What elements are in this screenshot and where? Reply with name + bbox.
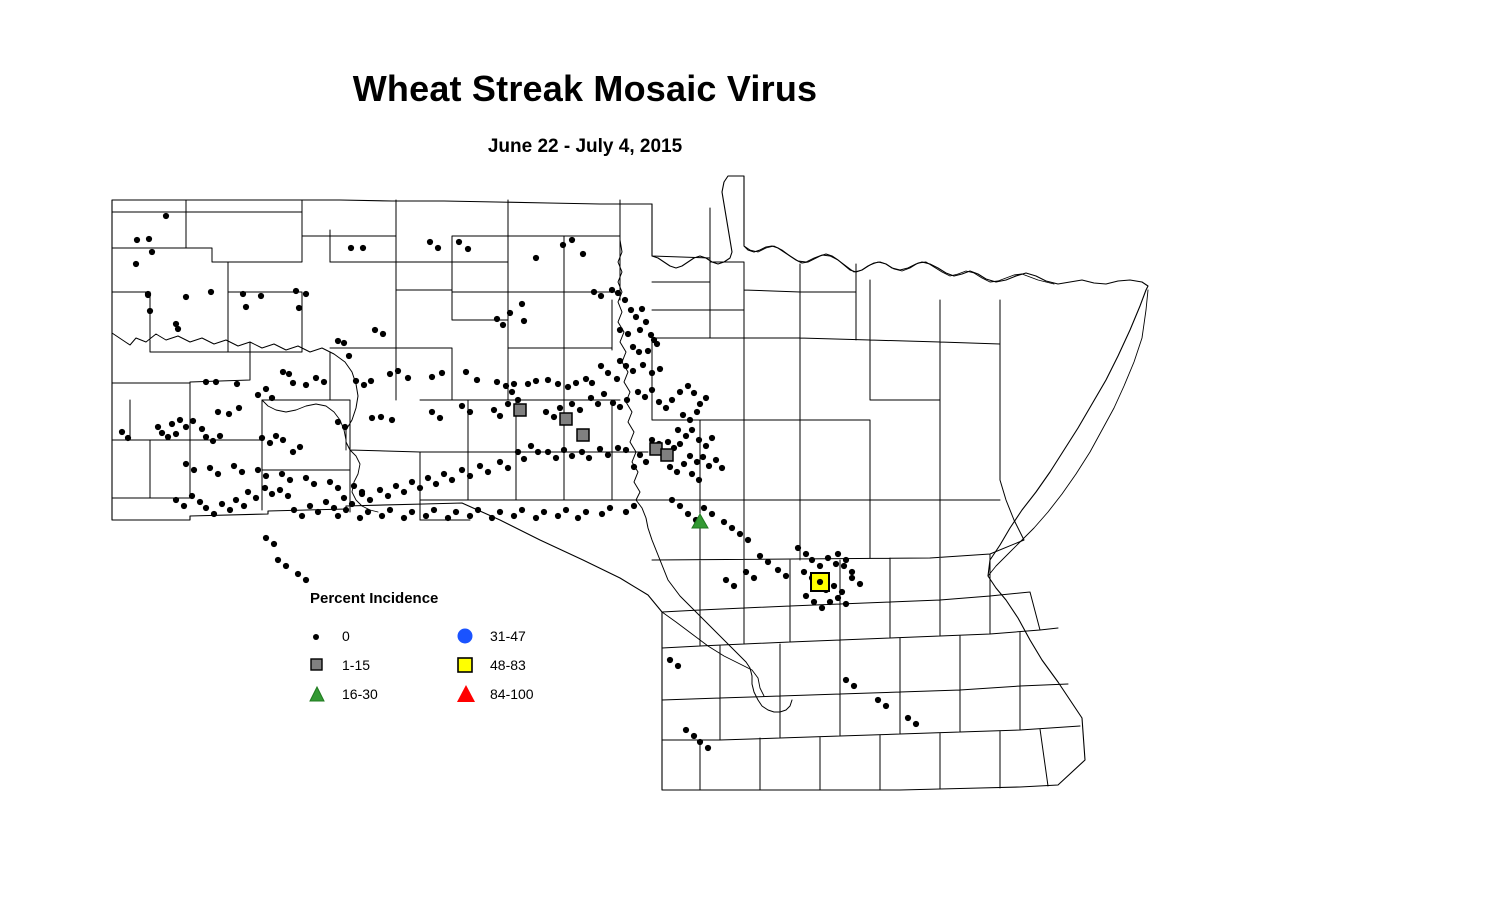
map-point-0 xyxy=(557,405,563,411)
map-point-0 xyxy=(133,261,139,267)
map-point-0 xyxy=(387,371,393,377)
map-point-0 xyxy=(589,380,595,386)
map-point-0 xyxy=(503,383,509,389)
map-point-0 xyxy=(657,366,663,372)
map-point-0 xyxy=(857,581,863,587)
map-point-0 xyxy=(215,409,221,415)
map-point-0 xyxy=(267,440,273,446)
legend-swatch-blue-circle-icon xyxy=(456,625,482,647)
map-point-0 xyxy=(723,577,729,583)
legend-label-16-30: 16-30 xyxy=(342,686,378,702)
map-point-0 xyxy=(343,507,349,513)
map-point-0 xyxy=(533,255,539,261)
map-point-0 xyxy=(700,454,706,460)
map-point-0 xyxy=(494,379,500,385)
map-point-0 xyxy=(253,495,259,501)
map-point-0 xyxy=(175,326,181,332)
map-point-0 xyxy=(656,399,662,405)
map-point-0 xyxy=(263,386,269,392)
map-point-0 xyxy=(622,297,628,303)
map-point-0 xyxy=(145,291,151,297)
map-point-0 xyxy=(303,577,309,583)
mt-counties xyxy=(112,200,420,520)
map-point-0 xyxy=(689,471,695,477)
map-point-0 xyxy=(245,489,251,495)
map-point-0 xyxy=(271,541,277,547)
map-point-0 xyxy=(811,599,817,605)
map-point-0 xyxy=(573,380,579,386)
map-point-0 xyxy=(203,434,209,440)
legend-swatch-green-triangle-icon xyxy=(308,683,334,705)
map-point-0 xyxy=(296,305,302,311)
map-point-0 xyxy=(467,473,473,479)
points-incidence-48-83 xyxy=(811,573,829,591)
map-point-0 xyxy=(349,501,355,507)
map-point-0 xyxy=(851,683,857,689)
map-point-0 xyxy=(231,463,237,469)
map-point-0 xyxy=(631,464,637,470)
map-point-0 xyxy=(599,511,605,517)
map-point-0 xyxy=(417,485,423,491)
map-point-0 xyxy=(258,293,264,299)
map-point-0 xyxy=(642,394,648,400)
map-point-0 xyxy=(255,392,261,398)
map-point-0 xyxy=(360,245,366,251)
map-point-0 xyxy=(146,236,152,242)
map-point-0 xyxy=(449,477,455,483)
map-point-0 xyxy=(713,457,719,463)
page-root: Wheat Streak Mosaic Virus June 22 - July… xyxy=(0,0,1503,900)
map-point-0 xyxy=(456,239,462,245)
map-point-0 xyxy=(617,404,623,410)
map-point-0 xyxy=(623,509,629,515)
map-point-0 xyxy=(315,509,321,515)
map-point-0 xyxy=(835,595,841,601)
map-point-0 xyxy=(563,507,569,513)
map-point-0 xyxy=(831,583,837,589)
map-point-0 xyxy=(555,513,561,519)
map-point-0 xyxy=(625,331,631,337)
map-point-0 xyxy=(595,401,601,407)
map-point-0 xyxy=(819,605,825,611)
map-point-0 xyxy=(467,513,473,519)
map-point-0 xyxy=(905,715,911,721)
map-point-0 xyxy=(643,459,649,465)
map-point-0 xyxy=(643,319,649,325)
map-point-0 xyxy=(696,437,702,443)
legend-swatch-dot-icon xyxy=(308,625,334,647)
map-point-0 xyxy=(259,435,265,441)
map-point-0 xyxy=(353,378,359,384)
map-point-0 xyxy=(169,421,175,427)
map-point-0 xyxy=(119,429,125,435)
map-point-0 xyxy=(583,509,589,515)
legend-label-84-100: 84-100 xyxy=(490,686,534,702)
map-point-0 xyxy=(515,449,521,455)
map-point-0 xyxy=(177,417,183,423)
map-point-0 xyxy=(509,389,515,395)
map-point-0 xyxy=(691,390,697,396)
map-point-0 xyxy=(551,414,557,420)
map-point-0 xyxy=(155,424,161,430)
map-point-0 xyxy=(669,397,675,403)
map-point-0 xyxy=(667,657,673,663)
map-point-0 xyxy=(491,407,497,413)
map-point-0 xyxy=(210,438,216,444)
map-point-0 xyxy=(586,455,592,461)
map-point-0 xyxy=(290,449,296,455)
map-point-0 xyxy=(601,391,607,397)
map-point-0 xyxy=(431,507,437,513)
map-point-0 xyxy=(635,389,641,395)
map-point-0 xyxy=(667,464,673,470)
map-point-0 xyxy=(623,363,629,369)
map-point-0 xyxy=(614,376,620,382)
map-point-0 xyxy=(236,405,242,411)
map-point-0 xyxy=(348,245,354,251)
map-point-0 xyxy=(463,369,469,375)
map-point-0 xyxy=(783,573,789,579)
map-point-0 xyxy=(729,525,735,531)
map-point-0 xyxy=(624,397,630,403)
map-point-0 xyxy=(617,358,623,364)
map-point-0 xyxy=(680,412,686,418)
map-point-0 xyxy=(293,288,299,294)
map-point-1-15 xyxy=(514,404,526,416)
map-point-0 xyxy=(433,481,439,487)
map-point-0 xyxy=(409,509,415,515)
map-point-0 xyxy=(409,479,415,485)
region-outline xyxy=(112,176,1148,790)
map-point-0 xyxy=(706,463,712,469)
map-point-0 xyxy=(803,593,809,599)
map-point-0 xyxy=(703,443,709,449)
map-point-0 xyxy=(701,505,707,511)
map-point-0 xyxy=(636,349,642,355)
map-point-0 xyxy=(569,453,575,459)
map-point-0 xyxy=(703,395,709,401)
map-point-0 xyxy=(833,561,839,567)
map-point-0 xyxy=(743,569,749,575)
map-point-0 xyxy=(234,381,240,387)
map-point-0 xyxy=(649,370,655,376)
map-point-1-15 xyxy=(661,449,673,461)
map-point-0 xyxy=(445,515,451,521)
map-point-0 xyxy=(817,579,823,585)
map-point-0 xyxy=(628,307,634,313)
map-point-0 xyxy=(378,414,384,420)
map-point-0 xyxy=(149,249,155,255)
map-point-0 xyxy=(731,583,737,589)
map-point-0 xyxy=(569,237,575,243)
map-point-0 xyxy=(489,515,495,521)
map-point-0 xyxy=(163,213,169,219)
map-point-0 xyxy=(213,379,219,385)
map-point-0 xyxy=(291,507,297,513)
map-point-0 xyxy=(633,314,639,320)
map-point-0 xyxy=(519,301,525,307)
map-point-0 xyxy=(181,503,187,509)
map-point-0 xyxy=(299,513,305,519)
map-point-0 xyxy=(630,368,636,374)
map-point-0 xyxy=(389,417,395,423)
map-point-0 xyxy=(511,381,517,387)
map-point-0 xyxy=(203,505,209,511)
map-point-0 xyxy=(545,377,551,383)
map-point-0 xyxy=(243,304,249,310)
map-point-0 xyxy=(560,242,566,248)
map-point-0 xyxy=(521,456,527,462)
map-point-0 xyxy=(439,370,445,376)
map-point-0 xyxy=(817,563,823,569)
map-point-0 xyxy=(379,513,385,519)
map-point-0 xyxy=(535,449,541,455)
map-point-0 xyxy=(649,387,655,393)
map-point-0 xyxy=(519,507,525,513)
mn-north-irregular xyxy=(744,246,1054,284)
map-point-0 xyxy=(583,376,589,382)
map-point-0 xyxy=(775,567,781,573)
map-point-0 xyxy=(173,431,179,437)
map-point-0 xyxy=(709,435,715,441)
map-point-0 xyxy=(677,441,683,447)
map-point-0 xyxy=(665,439,671,445)
map-point-0 xyxy=(147,308,153,314)
map-point-0 xyxy=(709,511,715,517)
map-point-0 xyxy=(507,310,513,316)
map-point-0 xyxy=(696,477,702,483)
lake-superior-shore xyxy=(988,290,1148,576)
map-point-0 xyxy=(427,239,433,245)
map-point-0 xyxy=(675,663,681,669)
map-point-0 xyxy=(683,727,689,733)
map-point-0 xyxy=(521,318,527,324)
map-point-0 xyxy=(459,467,465,473)
map-point-0 xyxy=(401,489,407,495)
map-point-0 xyxy=(134,237,140,243)
map-point-0 xyxy=(303,382,309,388)
map-point-0 xyxy=(623,447,629,453)
map-point-0 xyxy=(303,291,309,297)
map-point-0 xyxy=(183,424,189,430)
map-point-0 xyxy=(277,487,283,493)
map-point-0 xyxy=(380,331,386,337)
map-point-0 xyxy=(279,471,285,477)
map-point-0 xyxy=(683,433,689,439)
map-point-0 xyxy=(579,449,585,455)
map-point-0 xyxy=(351,483,357,489)
mn-sd-river-boundary xyxy=(662,612,764,696)
map-point-0 xyxy=(263,473,269,479)
map-point-0 xyxy=(555,381,561,387)
map-point-0 xyxy=(335,513,341,519)
map-point-0 xyxy=(801,569,807,575)
map-point-0 xyxy=(809,557,815,563)
map-point-0 xyxy=(183,294,189,300)
map-point-0 xyxy=(545,449,551,455)
map-point-0 xyxy=(393,483,399,489)
map-point-0 xyxy=(359,489,365,495)
map-point-0 xyxy=(687,453,693,459)
map-point-0 xyxy=(226,411,232,417)
map-point-0 xyxy=(227,507,233,513)
map-point-0 xyxy=(827,599,833,605)
map-point-0 xyxy=(591,289,597,295)
map-point-0 xyxy=(795,545,801,551)
map-point-0 xyxy=(605,370,611,376)
map-point-0 xyxy=(269,491,275,497)
map-point-0 xyxy=(474,377,480,383)
legend-label-48-83: 48-83 xyxy=(490,657,526,673)
map-point-0 xyxy=(377,487,383,493)
map-point-1-15 xyxy=(650,443,662,455)
map-point-0 xyxy=(341,495,347,501)
map-container xyxy=(0,0,1503,900)
map-point-0 xyxy=(505,465,511,471)
map-point-0 xyxy=(341,340,347,346)
map-point-0 xyxy=(528,443,534,449)
map-point-0 xyxy=(367,497,373,503)
map-point-0 xyxy=(685,511,691,517)
map-point-0 xyxy=(497,459,503,465)
map-point-0 xyxy=(401,515,407,521)
map-point-0 xyxy=(239,469,245,475)
map-point-0 xyxy=(598,293,604,299)
legend-swatch-yellow-square-icon xyxy=(456,654,482,676)
map-point-0 xyxy=(485,469,491,475)
map-point-0 xyxy=(405,375,411,381)
map-point-0 xyxy=(541,509,547,515)
map-point-0 xyxy=(453,509,459,515)
map-point-0 xyxy=(757,553,763,559)
map-point-0 xyxy=(335,338,341,344)
map-point-0 xyxy=(639,306,645,312)
map-point-0 xyxy=(435,245,441,251)
map-point-0 xyxy=(219,501,225,507)
map-point-0 xyxy=(500,322,506,328)
map-point-0 xyxy=(694,409,700,415)
legend-title: Percent Incidence xyxy=(310,590,438,607)
map-point-0 xyxy=(361,382,367,388)
map-point-0 xyxy=(617,327,623,333)
map-point-0 xyxy=(533,515,539,521)
county-boundaries-layer xyxy=(112,176,1148,790)
map-point-0 xyxy=(631,503,637,509)
map-point-0 xyxy=(841,563,847,569)
county-choropleth-map xyxy=(0,0,1503,900)
map-point-0 xyxy=(425,475,431,481)
map-point-0 xyxy=(335,485,341,491)
map-point-0 xyxy=(569,401,575,407)
map-point-0 xyxy=(372,327,378,333)
map-point-0 xyxy=(159,430,165,436)
legend-label-1-15: 1-15 xyxy=(342,657,370,673)
map-point-0 xyxy=(335,419,341,425)
map-point-0 xyxy=(465,246,471,252)
map-point-0 xyxy=(297,444,303,450)
map-point-0 xyxy=(286,371,292,377)
map-point-0 xyxy=(368,378,374,384)
map-point-0 xyxy=(190,418,196,424)
map-point-0 xyxy=(843,601,849,607)
map-point-0 xyxy=(395,368,401,374)
map-point-0 xyxy=(694,459,700,465)
map-point-0 xyxy=(721,519,727,525)
map-point-0 xyxy=(346,353,352,359)
map-point-0 xyxy=(543,409,549,415)
map-point-0 xyxy=(630,344,636,350)
map-point-0 xyxy=(553,455,559,461)
map-point-0 xyxy=(387,507,393,513)
map-point-0 xyxy=(429,409,435,415)
map-point-0 xyxy=(577,407,583,413)
map-point-0 xyxy=(365,509,371,515)
map-point-0 xyxy=(369,415,375,421)
map-point-0 xyxy=(719,465,725,471)
map-point-0 xyxy=(875,697,881,703)
map-point-0 xyxy=(839,589,845,595)
map-point-0 xyxy=(654,341,660,347)
map-point-0 xyxy=(262,485,268,491)
map-point-0 xyxy=(280,369,286,375)
legend: Percent Incidence 0 1-15 16-30 xyxy=(308,590,568,720)
map-point-0 xyxy=(191,467,197,473)
map-point-0 xyxy=(609,287,615,293)
map-point-0 xyxy=(217,433,223,439)
map-point-0 xyxy=(437,415,443,421)
legend-swatch-red-triangle-icon xyxy=(456,683,482,705)
map-point-0 xyxy=(283,563,289,569)
map-point-0 xyxy=(467,409,473,415)
map-point-0 xyxy=(459,403,465,409)
map-point-0 xyxy=(565,384,571,390)
map-point-0 xyxy=(323,499,329,505)
legend-label-31-47: 31-47 xyxy=(490,628,526,644)
map-point-0 xyxy=(637,327,643,333)
map-point-0 xyxy=(429,374,435,380)
map-point-0 xyxy=(165,434,171,440)
map-point-0 xyxy=(525,381,531,387)
map-point-0 xyxy=(280,437,286,443)
map-point-0 xyxy=(697,739,703,745)
map-point-0 xyxy=(203,379,209,385)
map-point-0 xyxy=(598,363,604,369)
map-point-0 xyxy=(263,535,269,541)
map-point-0 xyxy=(313,375,319,381)
map-point-0 xyxy=(342,424,348,430)
map-point-0 xyxy=(645,348,651,354)
map-point-0 xyxy=(173,497,179,503)
map-point-0 xyxy=(240,291,246,297)
map-point-0 xyxy=(307,503,313,509)
map-point-0 xyxy=(505,401,511,407)
map-point-0 xyxy=(691,733,697,739)
map-point-0 xyxy=(843,677,849,683)
map-point-0 xyxy=(849,575,855,581)
map-point-0 xyxy=(737,531,743,537)
map-point-0 xyxy=(125,435,131,441)
map-point-0 xyxy=(331,505,337,511)
map-point-0 xyxy=(607,505,613,511)
map-point-0 xyxy=(649,437,655,443)
map-point-0 xyxy=(311,481,317,487)
map-point-0 xyxy=(295,571,301,577)
map-point-0 xyxy=(615,290,621,296)
map-point-0 xyxy=(803,551,809,557)
map-point-0 xyxy=(475,507,481,513)
map-point-0 xyxy=(561,447,567,453)
map-point-0 xyxy=(637,452,643,458)
